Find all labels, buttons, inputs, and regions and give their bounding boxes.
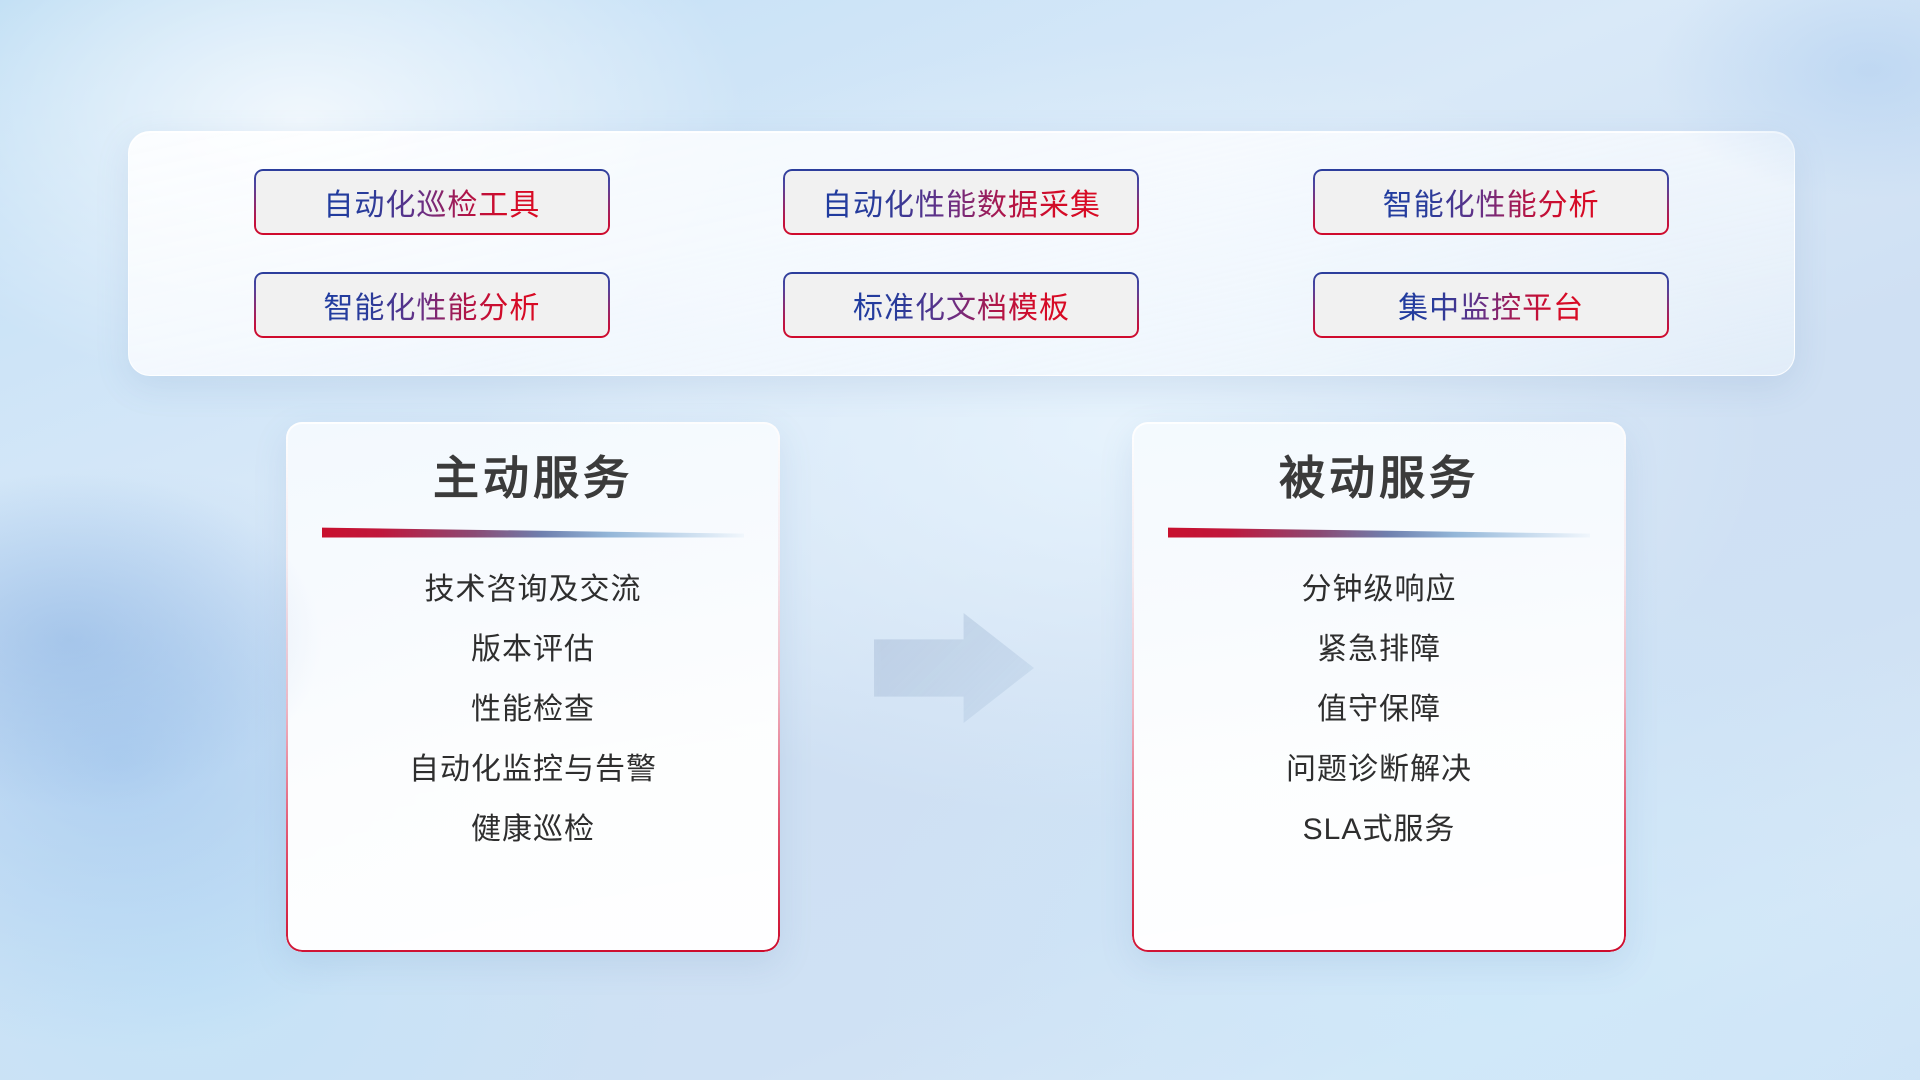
capability-chip[interactable]: 智能化性能分析 bbox=[254, 272, 610, 338]
capability-chip-label: 标准化文档模板 bbox=[853, 283, 1070, 327]
reactive-card-title: 被动服务 bbox=[1279, 450, 1479, 508]
list-item: 自动化监控与告警 bbox=[409, 752, 657, 788]
list-item: 健康巡检 bbox=[471, 812, 595, 848]
right-arrow-icon bbox=[874, 613, 1034, 723]
capability-chip[interactable]: 集中监控平台 bbox=[1313, 272, 1669, 338]
list-item: 问题诊断解决 bbox=[1286, 752, 1472, 788]
capability-chip[interactable]: 自动化巡检工具 bbox=[254, 169, 610, 235]
capability-chip[interactable]: 自动化性能数据采集 bbox=[783, 169, 1139, 235]
reactive-card-content: 被动服务 分钟级响应 紧急排障 值守保障 问题诊断解决 SLA式服务 bbox=[1132, 422, 1626, 952]
list-item: 版本评估 bbox=[471, 632, 595, 668]
capability-chip[interactable]: 智能化性能分析 bbox=[1313, 169, 1669, 235]
capability-chip-label: 自动化巡检工具 bbox=[323, 180, 540, 224]
list-item: 紧急排障 bbox=[1317, 632, 1441, 668]
list-item: SLA式服务 bbox=[1303, 812, 1456, 848]
proactive-card-divider bbox=[322, 526, 744, 538]
list-item: 技术咨询及交流 bbox=[425, 572, 642, 608]
capability-chip-label: 集中监控平台 bbox=[1398, 283, 1584, 327]
proactive-service-card: 主动服务 技术咨询及交流 版本评估 性能检查 自动化监控与告警 健康巡检 bbox=[286, 422, 780, 952]
proactive-card-content: 主动服务 技术咨询及交流 版本评估 性能检查 自动化监控与告警 健康巡检 bbox=[286, 422, 780, 952]
list-item: 分钟级响应 bbox=[1302, 572, 1457, 608]
capability-chip-label: 智能化性能分析 bbox=[323, 283, 540, 327]
capability-chip-label: 智能化性能分析 bbox=[1383, 180, 1600, 224]
diagram-canvas: 自动化巡检工具 自动化性能数据采集 智能化性能分析 智能化性能分析 标准化文档模… bbox=[0, 0, 1920, 1080]
list-item: 性能检查 bbox=[471, 692, 595, 728]
proactive-card-title: 主动服务 bbox=[433, 450, 633, 508]
reactive-card-divider bbox=[1168, 526, 1590, 538]
capability-panel: 自动化巡检工具 自动化性能数据采集 智能化性能分析 智能化性能分析 标准化文档模… bbox=[128, 131, 1795, 376]
reactive-service-list: 分钟级响应 紧急排障 值守保障 问题诊断解决 SLA式服务 bbox=[1132, 538, 1626, 848]
capability-chip[interactable]: 标准化文档模板 bbox=[783, 272, 1139, 338]
capability-chip-label: 自动化性能数据采集 bbox=[822, 180, 1101, 224]
reactive-service-card: 被动服务 分钟级响应 紧急排障 值守保障 问题诊断解决 SLA式服务 bbox=[1132, 422, 1626, 952]
proactive-service-list: 技术咨询及交流 版本评估 性能检查 自动化监控与告警 健康巡检 bbox=[286, 538, 780, 848]
list-item: 值守保障 bbox=[1317, 692, 1441, 728]
